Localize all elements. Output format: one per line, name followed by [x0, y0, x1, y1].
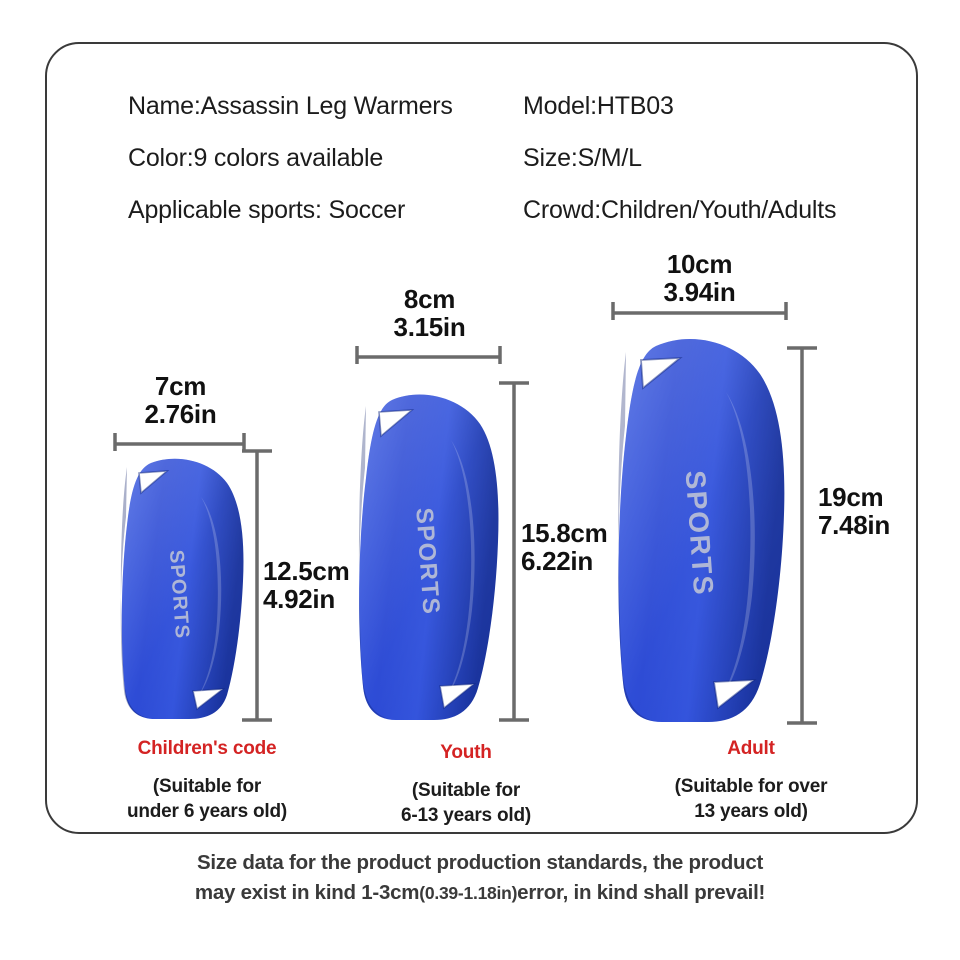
spec-row: Color:9 colors available Size:S/M/L	[128, 144, 928, 180]
spec-sport: Applicable sports: Soccer	[128, 196, 523, 225]
caption-sub-line2: 13 years old)	[601, 799, 901, 824]
spec-row: Applicable sports: Soccer Crowd:Children…	[128, 196, 928, 232]
footer-line-2: may exist in kind 1-3cm(0.39-1.18in)erro…	[0, 878, 960, 908]
size-chart-page: Name:Assassin Leg Warmers Model:HTB03 Co…	[0, 0, 960, 960]
spec-crowd: Crowd:Children/Youth/Adults	[523, 196, 836, 225]
footer-line-2-a: may exist in kind 1-3cm	[195, 881, 419, 904]
caption-sub-children: (Suitable for under 6 years old)	[57, 774, 357, 824]
footer-line-1: Size data for the product production sta…	[0, 848, 960, 878]
footer-line-2-c: error, in kind shall prevail!	[517, 881, 765, 904]
caption-sub-line2: 6-13 years old)	[316, 803, 616, 828]
footer-disclaimer: Size data for the product production sta…	[0, 848, 960, 907]
spec-model: Model:HTB03	[523, 92, 674, 121]
caption-sub-line2: under 6 years old)	[57, 799, 357, 824]
spec-size: Size:S/M/L	[523, 144, 642, 173]
spec-row: Name:Assassin Leg Warmers Model:HTB03	[128, 92, 928, 128]
spec-name: Name:Assassin Leg Warmers	[128, 92, 523, 121]
caption-sub-line1: (Suitable for	[316, 778, 616, 803]
caption-children: Children's code (Suitable for under 6 ye…	[57, 738, 357, 824]
spec-color: Color:9 colors available	[128, 144, 523, 173]
caption-sub-youth: (Suitable for 6-13 years old)	[316, 778, 616, 828]
product-spec-block: Name:Assassin Leg Warmers Model:HTB03 Co…	[128, 92, 928, 248]
caption-youth: Youth (Suitable for 6-13 years old)	[316, 742, 616, 828]
caption-title-youth: Youth	[316, 742, 616, 764]
caption-title-children: Children's code	[57, 738, 357, 760]
caption-title-adult: Adult	[601, 738, 901, 760]
caption-sub-line1: (Suitable for	[57, 774, 357, 799]
caption-adult: Adult (Suitable for over 13 years old)	[601, 738, 901, 824]
caption-sub-line1: (Suitable for over	[601, 774, 901, 799]
footer-line-2-inches: (0.39-1.18in)	[419, 883, 517, 903]
caption-sub-adult: (Suitable for over 13 years old)	[601, 774, 901, 824]
